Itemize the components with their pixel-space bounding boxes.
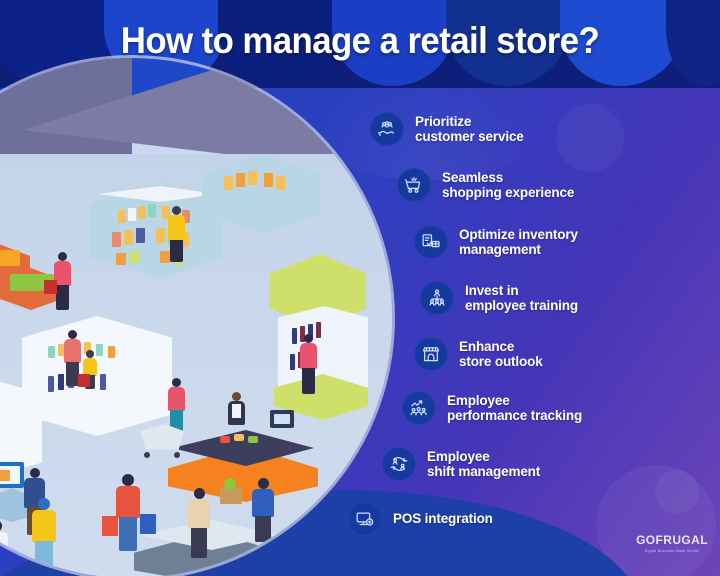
product-item [136,228,145,243]
brand-logo[interactable]: GOFRUGAL Digital Business Made Simple [630,534,714,554]
bottle [48,376,54,392]
page-title: How to manage a retail store? [22,19,699,63]
product-item [224,176,233,190]
list-item[interactable]: POS integration [348,502,493,536]
bottle [290,354,295,370]
list-item[interactable]: Seamless shopping experience [397,168,574,202]
tips-list: Prioritize customer service Seamless sho… [340,104,720,544]
infographic-canvas: How to manage a retail store? [0,0,720,576]
produce-item [224,478,236,490]
product-item [248,171,257,185]
list-item-label: Employee shift management [427,449,540,480]
product-item [112,232,121,247]
list-item-label: Invest in employee training [465,283,578,314]
bottle [100,374,106,390]
product-item [124,230,133,245]
bottle [58,374,64,390]
bottle [316,322,321,338]
product-item [156,228,165,243]
list-item[interactable]: Invest in employee training [420,281,578,315]
customer-service-icon [370,112,404,146]
product-item [130,251,140,263]
list-item-label: Seamless shopping experience [442,170,574,201]
counter-product [248,436,258,443]
list-item-label: Employee performance tracking [447,393,582,424]
counter-product [234,434,244,441]
inventory-box-icon [414,225,448,259]
shift-cycle-icon [382,447,416,481]
product-item [128,208,136,221]
cart-wheel [144,452,150,458]
product-item [116,253,126,265]
store-illustration [0,58,392,576]
product-item [148,204,156,217]
logo-tagline: Digital Business Made Simple [630,548,714,554]
cart-wheel [174,452,180,458]
list-item[interactable]: Enhance store outlook [414,337,543,371]
list-item[interactable]: Optimize inventory management [414,225,578,259]
list-item[interactable]: Employee performance tracking [402,391,582,425]
kiosk-screen-art [0,470,10,481]
shopping-cart-icon [397,168,431,202]
product-item [108,346,115,358]
product-item [118,210,126,223]
product-item [138,206,146,219]
list-item-label: Enhance store outlook [459,339,543,370]
list-item[interactable]: Employee shift management [382,447,540,481]
training-people-icon [420,281,454,315]
list-item-label: Optimize inventory management [459,227,578,258]
product-item [48,346,55,358]
island-shelf [22,316,172,436]
product-item [276,176,285,190]
list-item-label: POS integration [393,511,493,527]
counter-product [220,436,230,443]
performance-chart-icon [402,391,436,425]
product-item [236,173,245,187]
grocery-bag [220,488,242,504]
product-item [264,173,273,187]
storefront-icon [414,337,448,371]
pos-terminal-icon [348,502,382,536]
list-item[interactable]: Prioritize customer service [370,112,524,146]
product-item [96,344,103,356]
bottle [292,328,297,344]
logo-wordmark: GOFRUGAL [630,534,714,547]
produce-items [0,250,20,266]
register-screen [274,414,290,424]
list-item-label: Prioritize customer service [415,114,524,145]
product-item [160,251,170,263]
